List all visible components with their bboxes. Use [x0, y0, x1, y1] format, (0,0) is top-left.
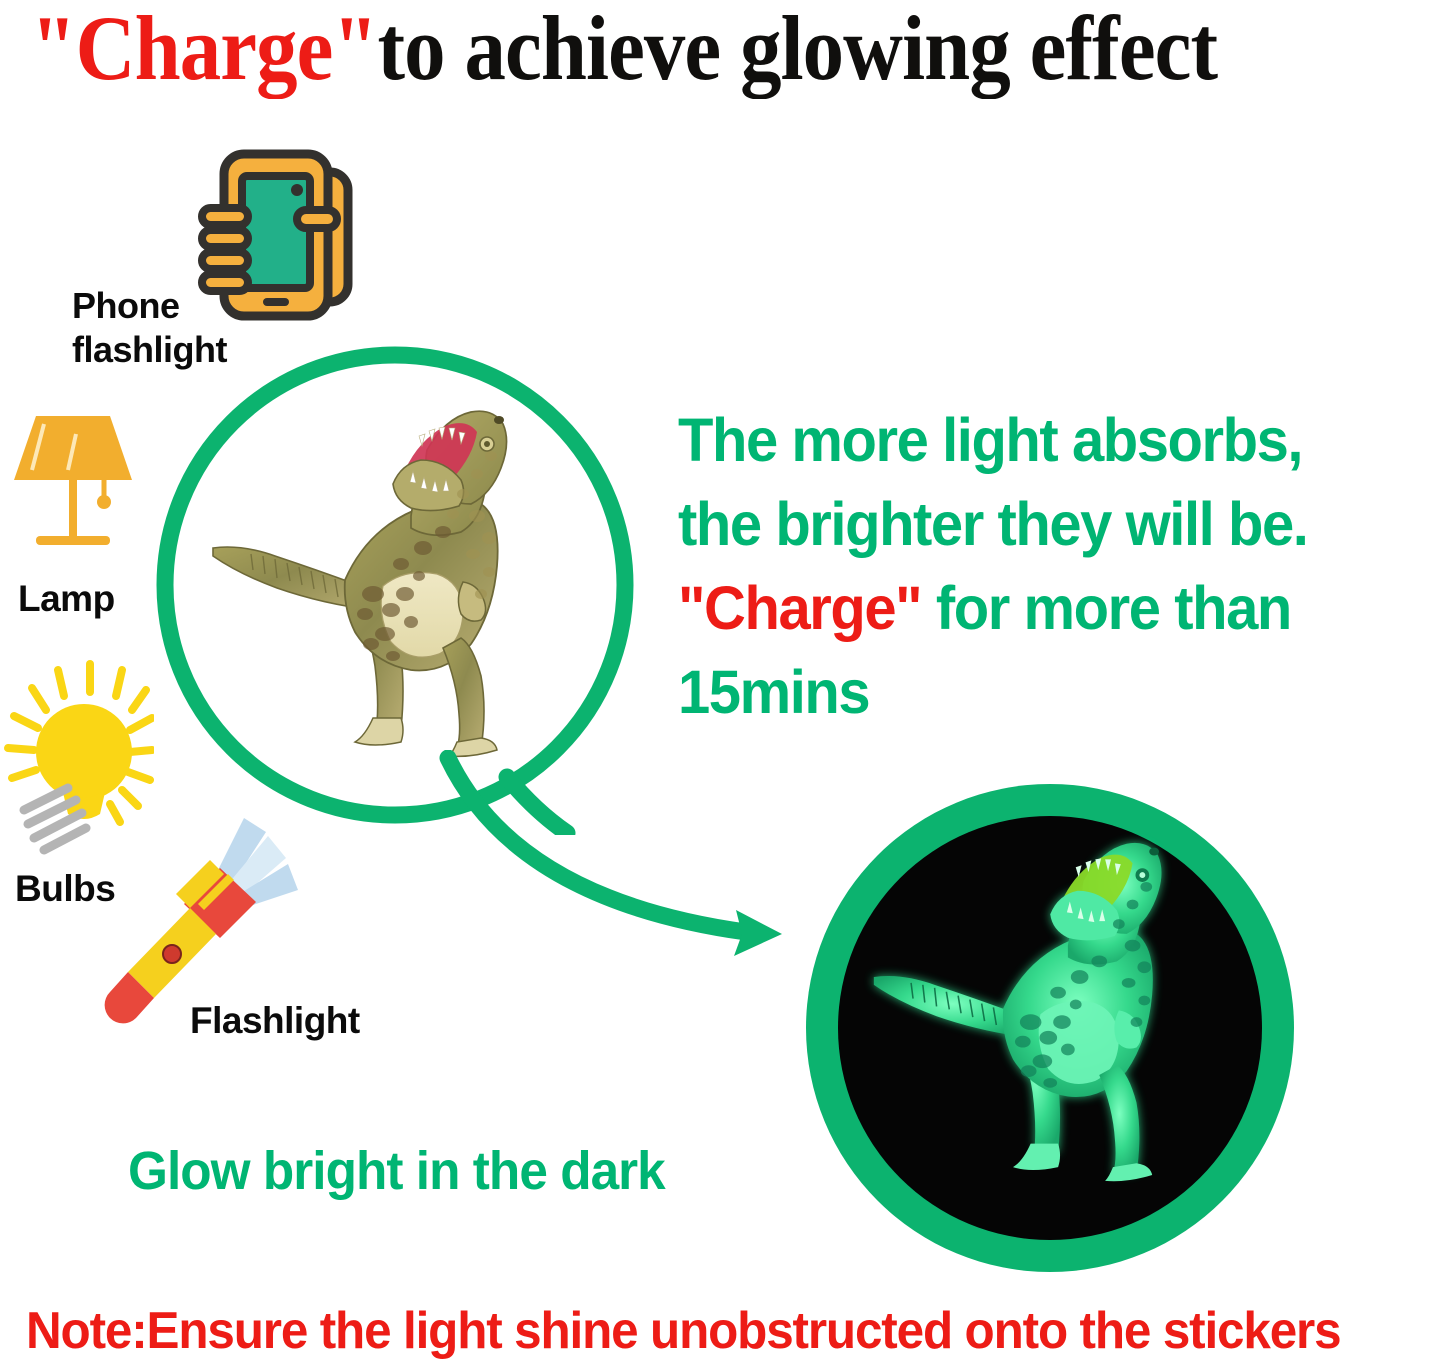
- benefit-line-2: the brighter they will be.: [678, 482, 1400, 566]
- label-phone-line1: Phone: [72, 284, 227, 328]
- dark-glow-dinosaur-circle: [800, 778, 1300, 1278]
- flashlight-icon: [98, 812, 313, 1032]
- dinosaur-sticker-daylight: [205, 398, 535, 758]
- table-lamp-icon: [8, 408, 138, 568]
- benefit-line-3: "Charge" for more than: [678, 566, 1400, 650]
- title-charge-word: "Charge": [31, 0, 378, 99]
- benefit-charge-word: "Charge": [678, 574, 921, 642]
- page-title: "Charge"to achieve glowing effect: [0, 0, 1301, 96]
- label-lamp: Lamp: [18, 578, 115, 620]
- benefit-line-3-rest: for more than: [921, 574, 1291, 642]
- benefit-description: The more light absorbs, the brighter the…: [678, 398, 1400, 734]
- bottom-note: Note:Ensure the light shine unobstructed…: [26, 1302, 1375, 1360]
- label-flashlight: Flashlight: [190, 1000, 360, 1042]
- glow-caption: Glow bright in the dark: [128, 1140, 665, 1202]
- benefit-line-4: 15mins: [678, 650, 1400, 734]
- curved-arrow: [430, 750, 850, 990]
- title-rest: to achieve glowing effect: [377, 0, 1217, 99]
- benefit-line-1: The more light absorbs,: [678, 398, 1400, 482]
